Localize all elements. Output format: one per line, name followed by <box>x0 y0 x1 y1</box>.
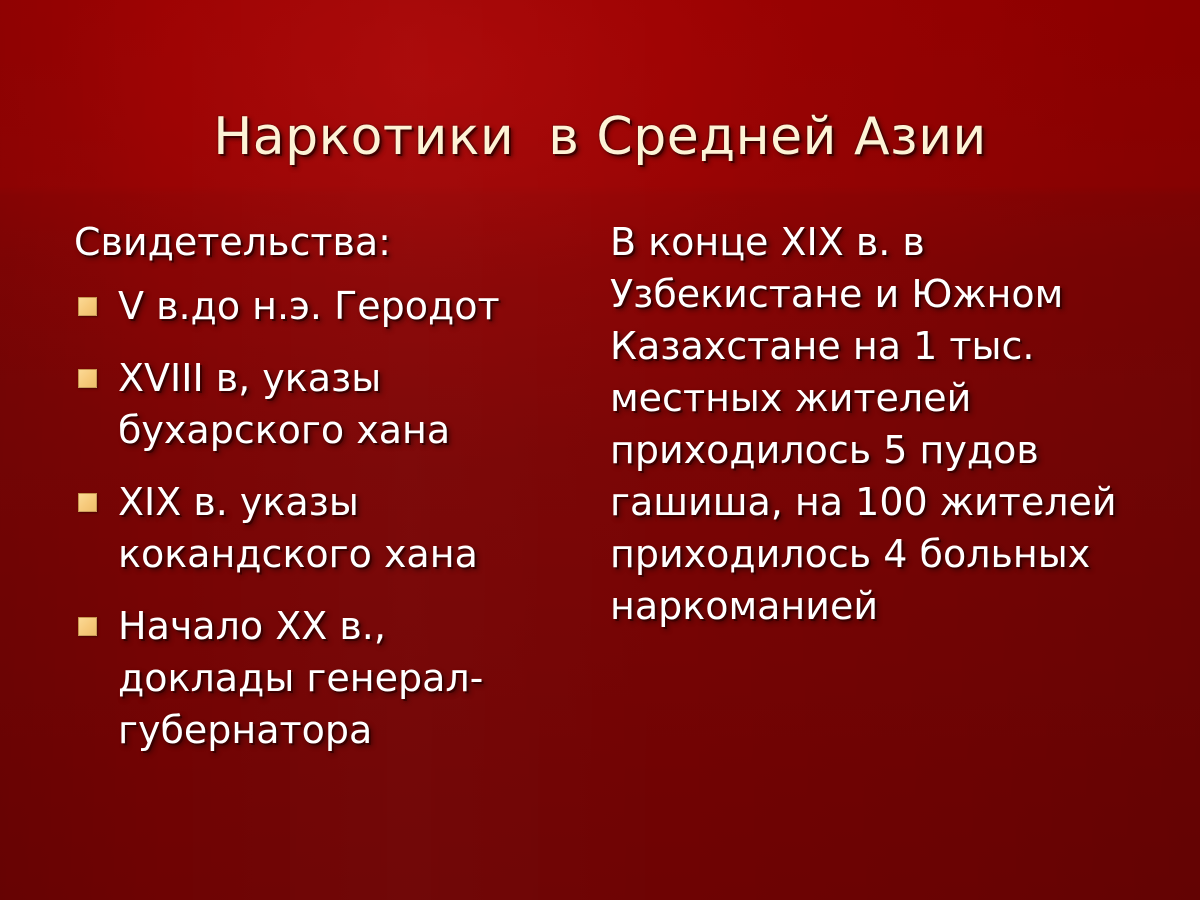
list-item-label: V в.до н.э. Геродот <box>118 280 574 332</box>
title-placeholder: Наркотики в Средней Азии <box>0 72 1200 202</box>
evidence-heading: Свидетельства: <box>74 216 574 268</box>
square-bullet-icon <box>78 297 97 316</box>
square-bullet-icon <box>78 493 97 512</box>
list-item-label: Начало XX в., доклады генерал-губернатор… <box>118 600 574 756</box>
body-placeholder: Свидетельства: V в.до н.э. Геродот XVIII… <box>0 216 1200 876</box>
square-bullet-icon <box>78 369 97 388</box>
evidence-bullet-list: V в.до н.э. Геродот XVIII в, указы бухар… <box>74 280 574 756</box>
slide-content: Наркотики в Средней Азии Свидетельства: … <box>0 0 1200 900</box>
list-item: V в.до н.э. Геродот <box>74 280 574 332</box>
left-content-column: Свидетельства: V в.до н.э. Геродот XVIII… <box>74 216 574 756</box>
list-item-label: XVIII в, указы бухарского хана <box>118 352 574 456</box>
list-item-label: XIX в. указы кокандского хана <box>118 476 574 580</box>
list-item: XIX в. указы кокандского хана <box>74 476 574 580</box>
slide-title: Наркотики в Средней Азии <box>213 107 987 167</box>
square-bullet-icon <box>78 617 97 636</box>
list-item: Начало XX в., доклады генерал-губернатор… <box>74 600 574 756</box>
statistics-paragraph: В конце XIX в. в Узбекистане и Южном Каз… <box>610 216 1130 632</box>
presentation-slide: Наркотики в Средней Азии Свидетельства: … <box>0 0 1200 900</box>
right-content-column: В конце XIX в. в Узбекистане и Южном Каз… <box>610 216 1130 632</box>
list-item: XVIII в, указы бухарского хана <box>74 352 574 456</box>
